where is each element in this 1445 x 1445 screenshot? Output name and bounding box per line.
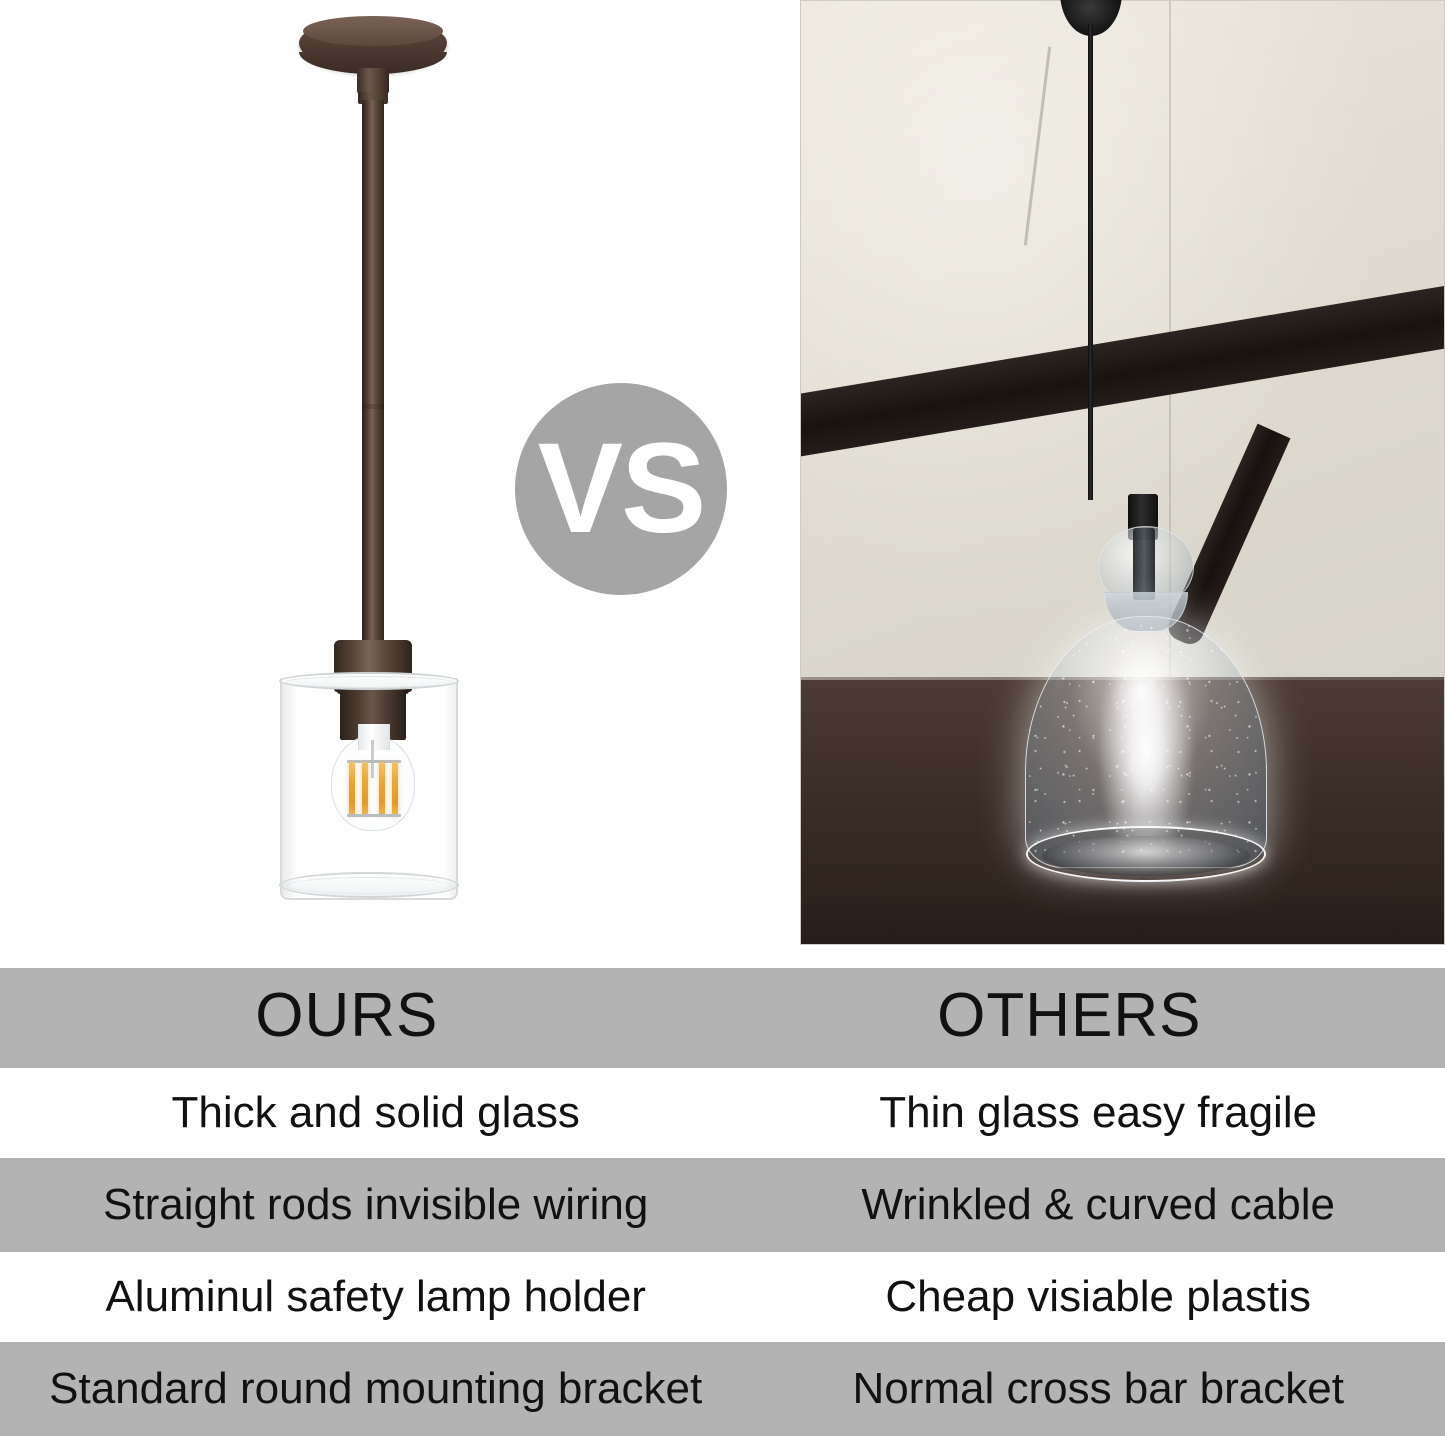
glass-highlight [300, 690, 307, 880]
filament-3 [379, 762, 385, 816]
bulb-neck [358, 724, 390, 750]
table-row: Aluminul safety lamp holder Cheap visiab… [0, 1252, 1445, 1342]
ours-feature-2: Straight rods invisible wiring [0, 1181, 751, 1229]
vs-badge: VS [515, 383, 727, 595]
filament-4 [392, 762, 398, 816]
table-row: Straight rods invisible wiring Wrinkled … [0, 1158, 1445, 1252]
canopy-top-face [303, 16, 443, 46]
hanging-cable [1088, 24, 1093, 500]
bulb-stem [371, 740, 374, 778]
table-row: Standard round mounting bracket Normal c… [0, 1342, 1445, 1436]
glass-top-rim-inner [286, 676, 452, 688]
ours-feature-1: Thick and solid glass [0, 1089, 751, 1137]
others-feature-4: Normal cross bar bracket [751, 1365, 1445, 1413]
column-header-ours: OURS [0, 985, 694, 1051]
table-row: Thick and solid glass Thin glass easy fr… [0, 1068, 1445, 1158]
stem-collar-upper [357, 68, 389, 94]
hero-images: VS [0, 0, 1445, 960]
filament-1 [349, 762, 355, 816]
table-header-row: OURS OTHERS [0, 968, 1445, 1068]
down-rod [362, 100, 384, 662]
others-feature-3: Cheap visiable plastis [751, 1273, 1445, 1321]
comparison-table: OURS OTHERS Thick and solid glass Thin g… [0, 968, 1445, 1445]
rod-seam [362, 404, 384, 409]
dome-bottom-rim [1026, 826, 1266, 882]
competitor-ball-core [1133, 528, 1155, 600]
filament-bar-bottom [347, 814, 401, 817]
comparison-infographic: VS OURS OTHERS Thick and solid glass Thi… [0, 0, 1445, 1445]
others-feature-1: Thin glass easy fragile [751, 1089, 1445, 1137]
filament-2 [362, 762, 368, 816]
ours-feature-3: Aluminul safety lamp holder [0, 1273, 751, 1321]
vs-badge-label: VS [538, 425, 705, 553]
ours-feature-4: Standard round mounting bracket [0, 1365, 751, 1413]
column-header-others: OTHERS [694, 985, 1445, 1051]
others-feature-2: Wrinkled & curved cable [751, 1181, 1445, 1229]
